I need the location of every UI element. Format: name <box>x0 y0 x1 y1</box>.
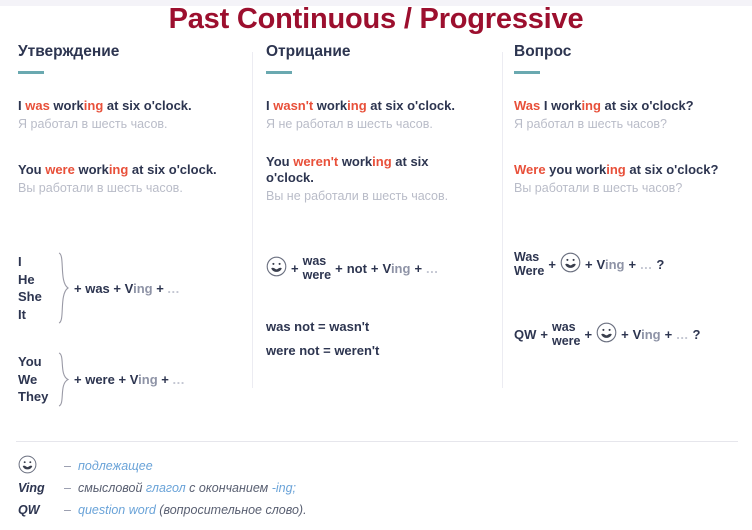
column-header-negative: Отрицание <box>266 42 494 62</box>
not-token: not <box>347 261 367 276</box>
legend-text: question word (вопросительное слово). <box>78 503 307 517</box>
aux-were: were <box>303 268 332 282</box>
example-translation: Я работал в шесть часов. <box>18 116 246 132</box>
ving-token: Ving <box>130 372 158 387</box>
text-fragment: ing <box>581 98 601 113</box>
ellipsis: ... <box>640 257 652 272</box>
plus-sign: + <box>584 327 592 342</box>
example-affirmative-2: You were working at six o'clock. Вы рабо… <box>18 162 246 196</box>
plus-sign: + <box>665 327 673 342</box>
text-fragment: weren't <box>293 154 338 169</box>
pronoun: He <box>18 271 58 289</box>
text-fragment: ing <box>372 154 392 169</box>
subject-face-icon <box>18 455 37 477</box>
legend-row-subject: – подлежащее <box>18 455 734 477</box>
curly-brace-icon <box>57 352 70 407</box>
plus-sign: + <box>161 372 169 387</box>
text-fragment: at six o'clock? <box>626 162 719 177</box>
text-fragment: ing <box>84 98 104 113</box>
text-fragment: work <box>50 98 84 113</box>
text-fragment: с окончанием <box>186 481 272 495</box>
text-fragment: work <box>75 162 109 177</box>
aux-were: were <box>552 334 581 348</box>
legend-symbol: Ving <box>18 481 64 495</box>
header-accent-underline <box>18 71 44 74</box>
text-fragment: at six o'clock. <box>367 98 455 113</box>
contraction-were-not: were not = weren't <box>266 343 379 358</box>
plus-sign: + <box>371 261 379 276</box>
qw-token: QW <box>514 327 536 342</box>
pronoun-group-singular: I He She It <box>18 253 58 323</box>
ving-v: V <box>383 261 391 276</box>
text-fragment: I work <box>540 98 581 113</box>
ellipsis: ... <box>676 327 688 342</box>
text-fragment: смысловой <box>78 481 146 495</box>
text-fragment: You <box>18 162 45 177</box>
ving-token: Ving <box>125 281 153 296</box>
plus-sign: + <box>540 327 548 342</box>
plus-sign: + <box>74 281 82 296</box>
plus-sign: + <box>156 281 164 296</box>
contraction-short: weren't <box>334 343 379 358</box>
plus-sign: + <box>74 372 82 387</box>
ving-token: Ving <box>633 327 661 342</box>
pronoun: I <box>18 253 58 271</box>
pronoun-group-plural: You We They <box>18 353 58 406</box>
columns-container: Утверждение I was working at six o'clock… <box>0 42 752 430</box>
text-fragment: were <box>45 162 75 177</box>
formula-question-qw: QW + was were + + Ving + <box>514 320 701 348</box>
plus-sign: + <box>628 257 636 272</box>
ellipsis: ... <box>167 281 179 296</box>
pronoun: She <box>18 288 58 306</box>
pronoun: It <box>18 306 58 324</box>
column-negative: Отрицание I wasn't working at six o'cloc… <box>266 42 494 430</box>
example-question-2: Were you working at six o'clock? Вы рабо… <box>514 162 742 196</box>
legend-row-qw: QW – question word (вопросительное слово… <box>18 499 734 521</box>
plus-sign: + <box>548 257 556 272</box>
ving-ing: ing <box>133 281 153 296</box>
ving-v: V <box>130 372 138 387</box>
legend-dash: – <box>64 503 78 517</box>
text-fragment: work <box>338 154 372 169</box>
aux-was: Was <box>514 250 544 264</box>
ving-token: Ving <box>383 261 411 276</box>
column-question: Вопрос Was I working at six o'clock? Я р… <box>514 42 742 430</box>
ving-ing: ing <box>391 261 411 276</box>
formula-affirmative-singular: I He She It + was + Ving + ... <box>18 252 180 324</box>
aux-were: Were <box>514 264 544 278</box>
equals-sign: = <box>323 343 331 358</box>
header-accent-underline <box>514 71 540 74</box>
plus-sign: + <box>585 257 593 272</box>
header-accent-underline <box>266 71 292 74</box>
legend-symbol <box>18 455 64 477</box>
text-fragment: глагол <box>146 481 186 495</box>
example-translation: Вы работали в шесть часов? <box>514 180 742 196</box>
example-translation: Я не работал в шесть часов. <box>266 116 494 132</box>
curly-brace-icon <box>57 252 70 324</box>
aux-stack-was-were: was were <box>303 254 332 282</box>
text-fragment: question word <box>78 503 156 517</box>
text-fragment: You <box>266 154 293 169</box>
ving-v: V <box>597 257 605 272</box>
example-sentence: I wasn't working at six o'clock. <box>266 98 494 114</box>
question-mark: ? <box>693 327 701 342</box>
subject-face-icon <box>560 252 581 276</box>
contraction-full: was not <box>266 319 314 334</box>
subject-face-icon <box>596 322 617 346</box>
text-fragment: wasn't <box>273 98 313 113</box>
legend: – подлежащее Ving – смысловой глагол с о… <box>18 455 734 521</box>
text-fragment: подлежащее <box>78 459 153 473</box>
ving-token: Ving <box>597 257 625 272</box>
auxiliary-verb: was <box>85 281 110 296</box>
example-negative-1: I wasn't working at six o'clock. Я не ра… <box>266 98 494 132</box>
formula-tail: + were + Ving + ... <box>74 372 185 387</box>
example-translation: Вы работали в шесть часов. <box>18 180 246 196</box>
plus-sign: + <box>291 261 299 276</box>
legend-symbol: QW <box>18 503 64 517</box>
column-affirmative: Утверждение I was working at six o'clock… <box>18 42 246 430</box>
ving-ing: ing <box>641 327 661 342</box>
pronoun: We <box>18 371 58 389</box>
ving-ing: ing <box>138 372 158 387</box>
formula-negative: + was were + not + Ving + ... <box>266 254 438 282</box>
formula-affirmative-plural: You We They + were + Ving + ... <box>18 352 185 407</box>
ving-ing: ing <box>605 257 625 272</box>
page-title: Past Continuous / Progressive <box>0 3 752 36</box>
ellipsis: ... <box>426 261 438 276</box>
plus-sign: + <box>335 261 343 276</box>
example-sentence: You were working at six o'clock. <box>18 162 246 178</box>
formula-tail: + was + Ving + ... <box>74 281 180 296</box>
contraction-was-not: was not = wasn't <box>266 319 369 334</box>
plus-sign: + <box>118 372 126 387</box>
text-fragment: ing <box>347 98 367 113</box>
pronoun: You <box>18 353 58 371</box>
equals-sign: = <box>318 319 326 334</box>
formula-question-basic: Was Were + + Ving + ... ? <box>514 250 664 278</box>
text-fragment: at six o'clock. <box>103 98 191 113</box>
text-fragment: at six o'clock? <box>601 98 694 113</box>
ving-v: V <box>125 281 133 296</box>
example-translation: Вы не работали в шесть часов. <box>266 188 494 204</box>
legend-text: смысловой глагол с окончанием -ing; <box>78 481 296 495</box>
column-header-affirmative: Утверждение <box>18 42 246 62</box>
contraction-short: wasn't <box>329 319 369 334</box>
example-affirmative-1: I was working at six o'clock. Я работал … <box>18 98 246 132</box>
contraction-full: were not <box>266 343 319 358</box>
legend-dash: – <box>64 459 78 473</box>
plus-sign: + <box>621 327 629 342</box>
subject-face-icon <box>266 256 287 280</box>
example-question-1: Was I working at six o'clock? Я работал … <box>514 98 742 132</box>
legend-text: подлежащее <box>78 459 153 473</box>
auxiliary-verb: were <box>85 372 115 387</box>
plus-sign: + <box>113 281 121 296</box>
ving-v: V <box>633 327 641 342</box>
ellipsis: ... <box>172 372 184 387</box>
text-fragment: ing <box>606 162 626 177</box>
text-fragment: -ing; <box>272 481 296 495</box>
example-sentence: Was I working at six o'clock? <box>514 98 742 114</box>
pronoun: They <box>18 388 58 406</box>
text-fragment: Were <box>514 162 546 177</box>
text-fragment: was <box>25 98 50 113</box>
aux-stack-was-were: was were <box>552 320 581 348</box>
text-fragment: at six o'clock. <box>128 162 216 177</box>
aux-was: was <box>552 320 581 334</box>
aux-was: was <box>303 254 332 268</box>
text-fragment: you work <box>546 162 607 177</box>
example-sentence: Were you working at six o'clock? <box>514 162 742 178</box>
question-mark: ? <box>656 257 664 272</box>
example-sentence: You weren't working at six o'clock. <box>266 154 456 186</box>
example-sentence: I was working at six o'clock. <box>18 98 246 114</box>
text-fragment: ing <box>109 162 129 177</box>
example-negative-2: You weren't working at six o'clock. Вы н… <box>266 154 494 204</box>
text-fragment: (вопросительное слово). <box>156 503 307 517</box>
text-fragment: Was <box>514 98 540 113</box>
plus-sign: + <box>414 261 422 276</box>
example-translation: Я работал в шесть часов? <box>514 116 742 132</box>
legend-divider <box>16 441 738 442</box>
column-header-question: Вопрос <box>514 42 742 62</box>
aux-stack-was-were: Was Were <box>514 250 544 278</box>
text-fragment: work <box>313 98 347 113</box>
legend-dash: – <box>64 481 78 495</box>
legend-row-ving: Ving – смысловой глагол с окончанием -in… <box>18 477 734 499</box>
